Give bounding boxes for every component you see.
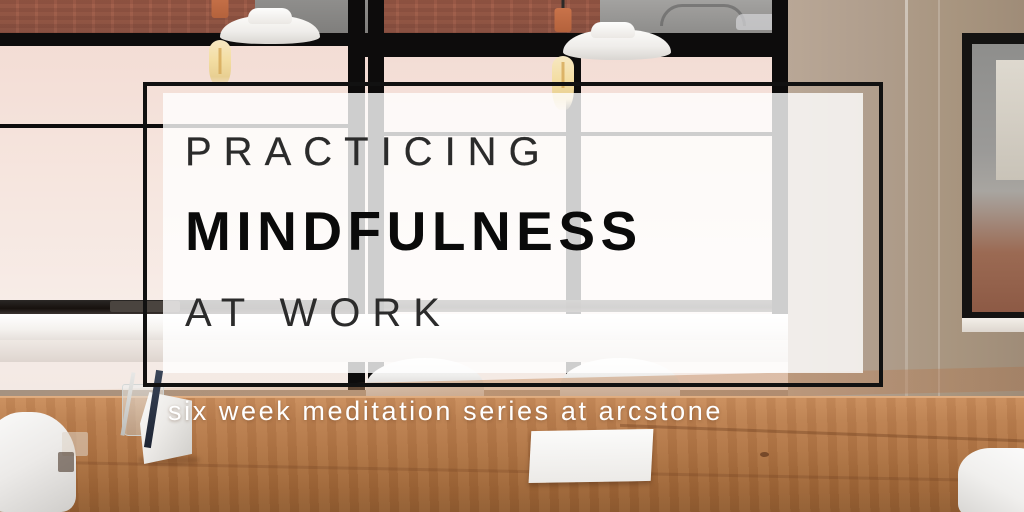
- table-wood-knot: [760, 452, 769, 457]
- lamp-shade-cap: [591, 22, 635, 38]
- exterior-building-far-right: [996, 60, 1024, 180]
- poster-image: PRACTICING MINDFULNESS AT WORK six week …: [0, 0, 1024, 512]
- headline-block: PRACTICING MINDFULNESS AT WORK: [185, 132, 885, 333]
- chair-right: [958, 448, 1024, 512]
- wall-outlet-shadow: [58, 452, 74, 472]
- lamp-socket: [555, 8, 572, 32]
- headline-line-top: PRACTICING: [185, 132, 885, 172]
- headline-line-main: MINDFULNESS: [185, 204, 885, 259]
- lamp-filament: [219, 48, 222, 74]
- poster-subtitle: six week meditation series at arcstone: [168, 398, 948, 425]
- headline-line-bottom: AT WORK: [185, 293, 885, 333]
- lamp-shade-cap: [248, 8, 292, 24]
- window-far-right-sill: [962, 318, 1024, 332]
- window-mullion-horizontal-top: [0, 33, 800, 46]
- exterior-pipe: [660, 4, 746, 26]
- lamp-socket: [212, 0, 229, 18]
- paper-sheet: [529, 429, 654, 483]
